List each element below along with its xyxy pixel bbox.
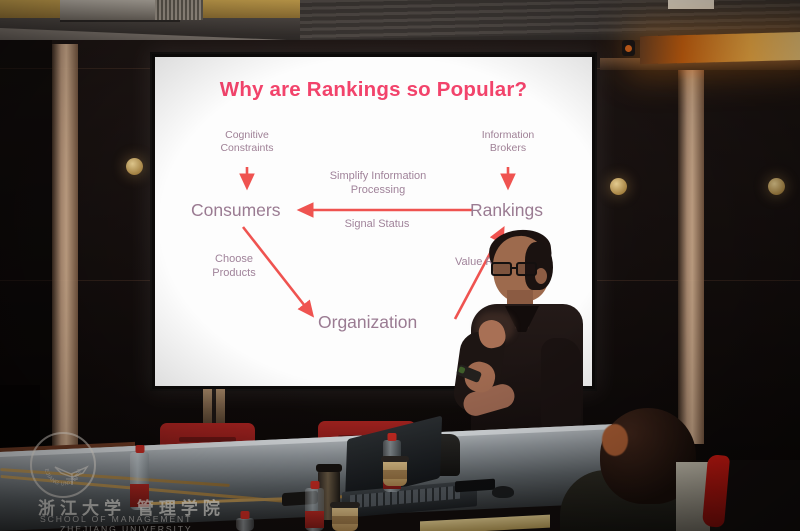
coffee-cup-back xyxy=(383,460,407,486)
ceiling-light-panel xyxy=(668,0,714,9)
paper-stack xyxy=(420,515,550,531)
water-bottle-left xyxy=(130,452,149,510)
laptop-keyboard xyxy=(350,486,460,509)
ceiling-vent xyxy=(155,0,203,20)
water-bottle-front xyxy=(305,488,324,531)
water-bottle-foreground xyxy=(236,518,254,531)
wall-light-center-right xyxy=(610,178,627,195)
coffee-cup-front xyxy=(332,506,358,531)
presenter-arm-right xyxy=(541,338,581,434)
edge-label-choose-products: Choose Products xyxy=(179,252,289,280)
screen-stand-pole xyxy=(212,386,216,426)
wall-pillar-left xyxy=(52,44,78,464)
edge-label-signal-status: Signal Status xyxy=(307,217,447,231)
presenter xyxy=(455,228,605,458)
wall-light-right xyxy=(768,178,785,195)
audience-ear xyxy=(602,424,628,456)
node-organization: Organization xyxy=(318,312,417,333)
wall-light-left xyxy=(126,158,143,175)
glasses-icon xyxy=(491,262,539,277)
caption-information-brokers: Information Brokers xyxy=(448,129,568,155)
warm-light-strip xyxy=(640,32,800,64)
security-camera-icon xyxy=(622,40,635,56)
lecture-hall-scene: Why are Rankings so Popular? xyxy=(0,0,800,531)
edge-label-simplify-information-processing: Simplify Information Processing xyxy=(298,169,458,197)
mouse xyxy=(492,486,514,498)
caption-cognitive-constraints: Cognitive Constraints xyxy=(187,129,307,155)
wall-pillar-right xyxy=(678,44,704,444)
node-consumers: Consumers xyxy=(191,200,280,221)
node-rankings: Rankings xyxy=(470,200,543,221)
